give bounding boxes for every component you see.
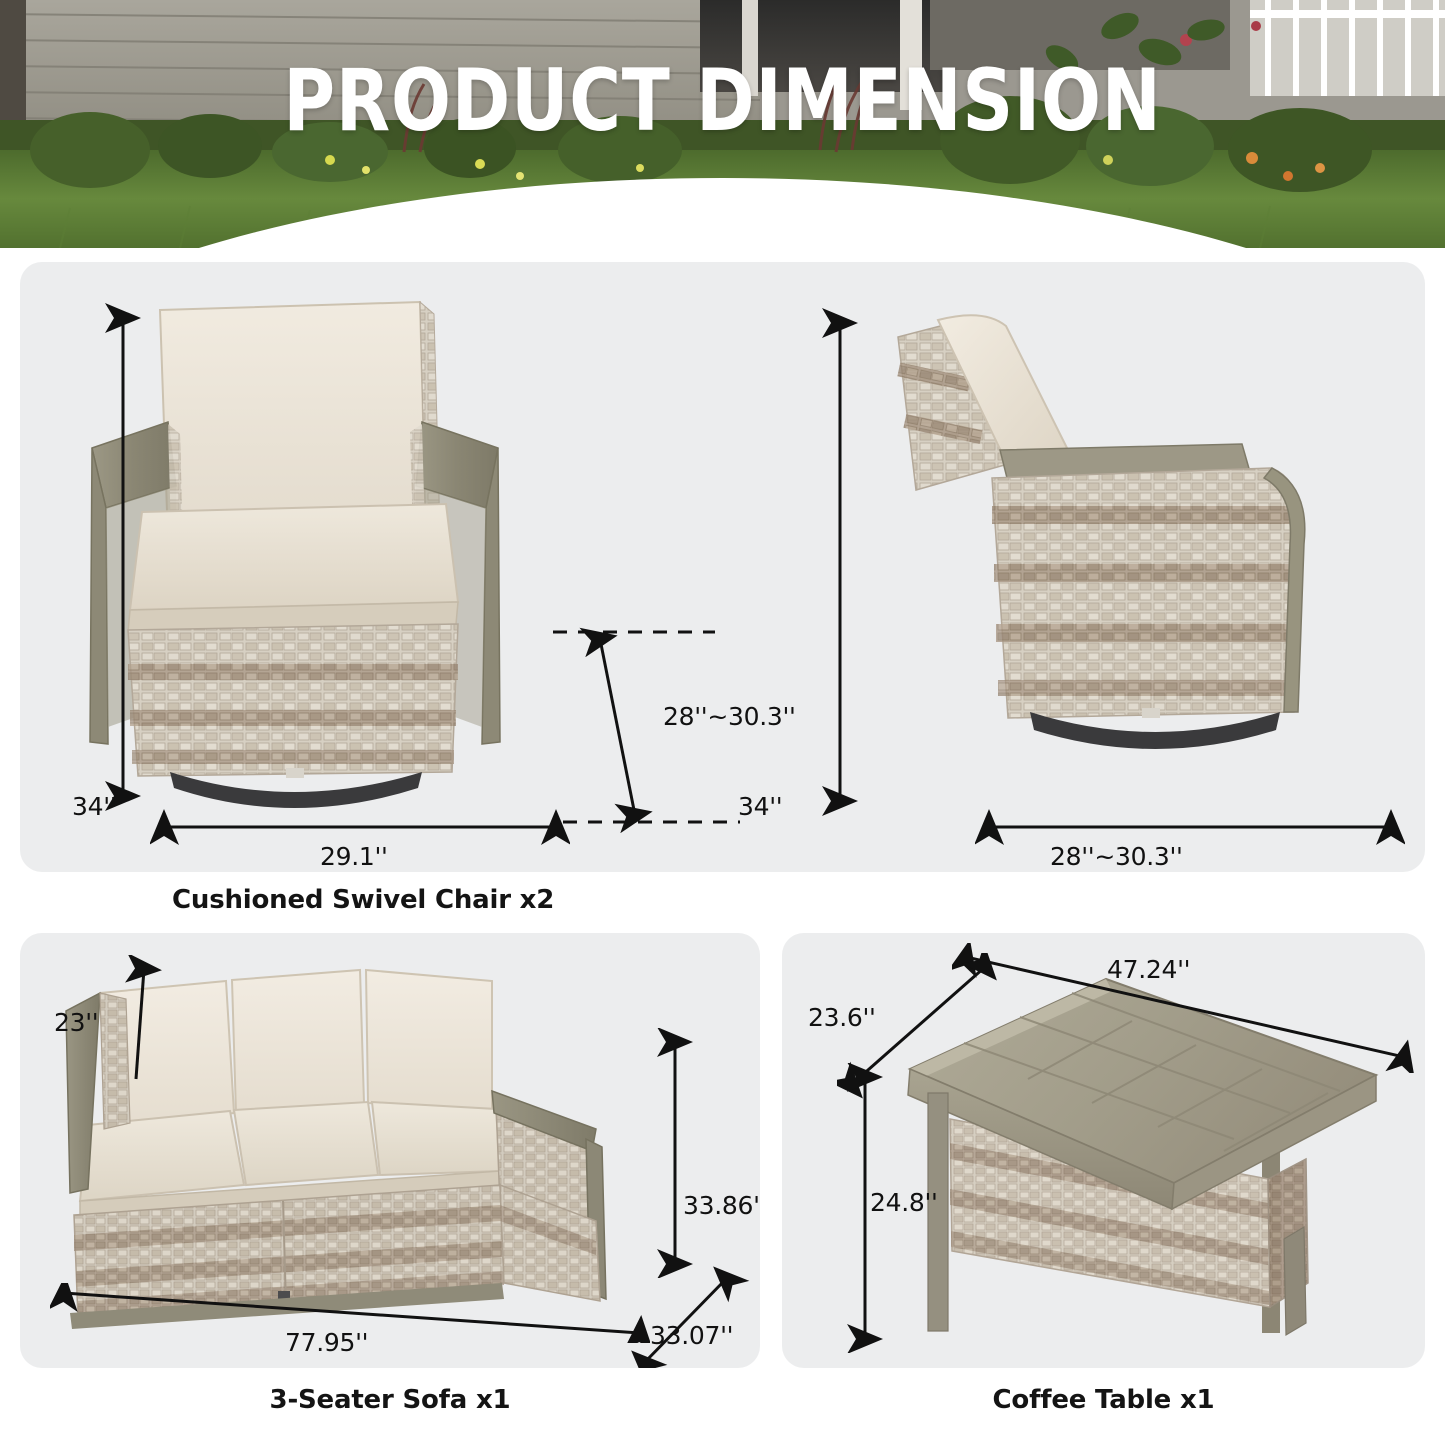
chair-front-depth-label: 28''~30.3'' bbox=[663, 702, 796, 731]
caption-3-seater-sofa: 3-Seater Sofa x1 bbox=[20, 1385, 760, 1415]
table-width-label: 47.24'' bbox=[1107, 955, 1190, 984]
chair-side-depth-arrow bbox=[975, 807, 1405, 847]
table-depth-label: 23.6'' bbox=[808, 1003, 876, 1032]
caption-coffee-table: Coffee Table x1 bbox=[782, 1385, 1425, 1415]
sofa-seat-cushion-right bbox=[372, 1102, 500, 1175]
panel-coffee-table: 47.24'' 23.6'' 24.8'' bbox=[782, 933, 1425, 1368]
chair-front-width-label: 29.1'' bbox=[320, 842, 388, 871]
sofa-total-height-label: 33.86'' bbox=[683, 1191, 760, 1220]
table-height-label: 24.8'' bbox=[870, 1188, 938, 1217]
sofa-back-height-label: 23'' bbox=[54, 1008, 98, 1037]
sofa-back-height-arrow bbox=[110, 955, 170, 1085]
chair-wicker-base bbox=[128, 624, 458, 776]
sofa-width-label: 77.95'' bbox=[285, 1328, 368, 1357]
caption-cushioned-swivel-chair: Cushioned Swivel Chair x2 bbox=[172, 885, 554, 915]
chair-seat-cushion bbox=[130, 504, 458, 610]
chair-side-height-label: 34'' bbox=[738, 792, 782, 821]
sofa-back-cushion-center bbox=[232, 970, 364, 1113]
page-title: PRODUCT DIMENSION bbox=[130, 58, 1315, 144]
table-leg-front-right bbox=[1284, 1227, 1306, 1335]
header-banner: PRODUCT DIMENSION bbox=[0, 0, 1445, 248]
panel-3-seater-sofa: 23'' 33.86'' 77.95'' 33.07'' bbox=[20, 933, 760, 1368]
chair-front-height-arrow bbox=[100, 302, 160, 812]
chair-side-view-figure bbox=[880, 282, 1420, 852]
sofa-depth-arrow bbox=[628, 1263, 758, 1368]
chair-side-height-arrow bbox=[810, 307, 870, 817]
panel-cushioned-swivel-chair: 34'' 29.1'' 28''~30.3'' bbox=[20, 262, 1425, 872]
sofa-seat-cushion-center bbox=[234, 1102, 378, 1185]
chair-side-depth-label: 28''~30.3'' bbox=[1050, 842, 1183, 871]
chair-front-height-label: 34'' bbox=[72, 792, 116, 821]
sofa-back-cushion-right bbox=[366, 970, 492, 1109]
sofa-depth-label: 33.07'' bbox=[650, 1321, 733, 1350]
chair-back-cushion bbox=[160, 302, 426, 540]
chair-front-depth-dimension bbox=[545, 617, 835, 847]
sofa-total-height-arrow bbox=[650, 1028, 700, 1278]
chair-side-wicker-body bbox=[992, 468, 1300, 718]
chair-front-width-arrow bbox=[150, 807, 570, 847]
